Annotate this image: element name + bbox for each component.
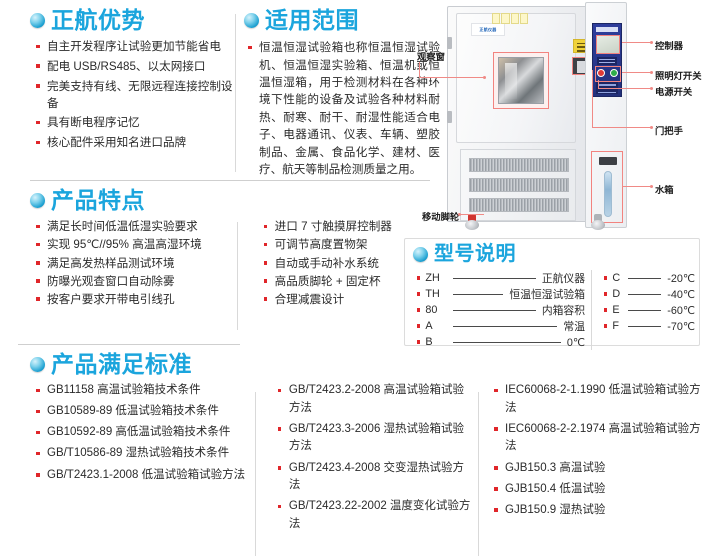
lamp-switch-icon[interactable] (610, 69, 618, 77)
divider-vertical (237, 222, 238, 330)
model-value: -20℃ (667, 272, 695, 285)
observation-window-glass (498, 57, 544, 104)
divider-horizontal (18, 344, 240, 345)
leader-line (622, 72, 653, 73)
model-row: B0℃ (417, 334, 585, 350)
model-code: F (612, 320, 622, 332)
leader-dot (650, 126, 653, 129)
bullet-icon (604, 276, 607, 279)
brand-logo-text: 正航仪器 (479, 27, 496, 33)
callout-caster: 移动脚轮 (422, 209, 459, 223)
leader-dot (650, 41, 653, 44)
section-standards: 产品满足标准 GB11158 高温试验箱技术条件 GB10589-89 低温试验… (18, 352, 710, 537)
list-item: IEC60068-2-2.1974 高温试验箱试验方法 (492, 421, 710, 456)
model-code: 80 (425, 304, 447, 316)
list-item: GB10589-89 低温试验箱技术条件 (34, 403, 254, 421)
model-rows-right: C-20℃ D-40℃ E-60℃ F-70℃ (591, 270, 695, 350)
bullet-icon (604, 324, 607, 327)
features-list-left: 满足长时间低温低湿实验要求 实现 95℃//95% 高温高湿环境 满足高发热样品… (34, 218, 244, 309)
section-title: 正航优势 (51, 8, 145, 32)
leader-dot (458, 213, 461, 216)
bullet-icon (604, 292, 607, 295)
list-item: GJB150.9 湿热试验 (492, 502, 710, 520)
leader-line (622, 42, 653, 43)
bullet-icon (417, 340, 420, 343)
vent-grille-icon (469, 158, 569, 172)
cabinet-door: 正航仪器 (456, 13, 576, 143)
callout-controller: 控制器 (655, 38, 683, 52)
leader-dot (483, 76, 486, 79)
section-header-advantages: 正航优势 (30, 8, 236, 32)
section-title: 型号说明 (434, 244, 516, 265)
model-code: ZH (425, 272, 447, 284)
bullet-icon (417, 292, 420, 295)
product-spec-page: 正航优势 自主开发程序让试验更加节能省电 配电 USB/RS485、以太网接口 … (0, 0, 710, 556)
section-header-model: 型号说明 (413, 244, 699, 265)
section-features: 产品特点 满足长时间低温低湿实验要求 实现 95℃//95% 高温高湿环境 满足… (18, 188, 438, 309)
section-title: 产品特点 (51, 188, 145, 212)
list-item: GB/T2423.4-2008 交变湿热试验方法 (276, 460, 474, 495)
list-item: 核心配件采用知名进口品牌 (34, 134, 236, 151)
callout-water-tank: 水箱 (655, 182, 674, 196)
model-row: 80内箱容积 (417, 302, 585, 318)
model-row: TH恒温恒湿试验箱 (417, 286, 585, 302)
orb-icon (30, 357, 45, 372)
leader-dot (650, 71, 653, 74)
tank-slot-icon (599, 157, 617, 165)
model-rows-left: ZH正航仪器 TH恒温恒湿试验箱 80内箱容积 A常温 B0℃ (417, 270, 585, 350)
orb-icon (30, 193, 45, 208)
list-item: 防曝光观查窗口自动除雾 (34, 273, 244, 290)
section-header-features: 产品特点 (30, 188, 438, 212)
model-row: F-70℃ (604, 318, 695, 334)
dash-connector (628, 278, 661, 279)
leader-line (622, 170, 623, 186)
scope-paragraph: 恒温恒湿试验箱也称恒温恒湿试验机、恒温恒湿实验箱、恒温机或恒温恒湿箱，用于检测材… (246, 39, 440, 178)
dash-connector (453, 310, 535, 311)
tank-level-tube-icon (604, 171, 612, 217)
standards-list-1: GB11158 高温试验箱技术条件 GB10589-89 低温试验箱技术条件 G… (34, 382, 254, 537)
leader-line (419, 77, 484, 78)
cabinet-body: 正航仪器 (447, 6, 587, 222)
bullet-icon (417, 308, 420, 311)
control-panel (592, 23, 622, 97)
model-row: C-20℃ (604, 270, 695, 286)
list-item: GJB150.3 高温试验 (492, 460, 710, 478)
water-tank-highlight (591, 151, 623, 223)
model-row: D-40℃ (604, 286, 695, 302)
vent-grille-icon (469, 178, 569, 192)
vent-grille-icon (469, 198, 569, 212)
brand-logo: 正航仪器 (471, 23, 505, 36)
bullet-icon (417, 324, 420, 327)
leader-line (592, 127, 653, 128)
list-item: IEC60068-2-1.1990 低温试验箱试验方法 (492, 382, 710, 417)
list-item: GB/T2423.2-2008 高温试验箱试验方法 (276, 382, 474, 417)
divider-horizontal (30, 180, 430, 181)
dash-connector (628, 294, 661, 295)
hinge-icon (447, 111, 452, 123)
panel-top-label (596, 27, 618, 32)
leader-line (592, 70, 593, 127)
section-header-scope: 适用范围 (244, 8, 440, 32)
leader-dot (650, 185, 653, 188)
list-item: 完美支持有线、无限远程连接控制设备 (34, 78, 236, 112)
model-value: -70℃ (667, 320, 695, 333)
bullet-icon (417, 276, 420, 279)
list-item: GB/T10586-89 湿热试验箱技术条件 (34, 445, 254, 463)
advantages-list: 自主开发程序让试验更加节能省电 配电 USB/RS485、以太网接口 完美支持有… (34, 38, 236, 151)
model-value: 内箱容积 (542, 302, 585, 318)
lower-vent-panel (460, 149, 576, 221)
standards-list-2: GB/T2423.2-2008 高温试验箱试验方法 GB/T2423.3-200… (276, 382, 474, 537)
model-code: C (612, 272, 622, 284)
list-item: GB10592-89 高低温试验箱技术条件 (34, 424, 254, 442)
switch-row (596, 68, 620, 80)
bullet-icon (604, 308, 607, 311)
orb-icon (413, 247, 428, 262)
model-value: 正航仪器 (542, 270, 585, 286)
list-item: GJB150.4 低温试验 (492, 481, 710, 499)
list-item: 按客户要求开带电引线孔 (34, 291, 244, 308)
orb-icon (30, 13, 45, 28)
callout-lamp-switch: 照明灯开关 (655, 68, 702, 82)
list-item: GB11158 高温试验箱技术条件 (34, 382, 254, 400)
model-code: TH (425, 288, 447, 300)
list-item: 进口 7 寸触摸屏控制器 (262, 218, 438, 235)
product-photo: 正航仪器 (447, 2, 627, 230)
observation-window-highlight (493, 52, 549, 109)
leader-line (622, 186, 653, 187)
list-item: GB/T2423.1-2008 低温试验箱试验方法 (34, 467, 254, 485)
model-value: 0℃ (567, 336, 585, 349)
list-item: 具有断电程序记忆 (34, 114, 236, 131)
model-code: B (425, 336, 447, 348)
caster-icon (591, 214, 605, 230)
model-value: 恒温恒湿试验箱 (509, 286, 585, 302)
list-item: GB/T2423.22-2002 温度变化试验方法 (276, 498, 474, 533)
section-title: 适用范围 (265, 8, 359, 32)
panel-mid-label (597, 57, 617, 65)
divider-vertical (235, 14, 236, 172)
indicator-lamps-icon (492, 13, 528, 24)
list-item: GB/T2423.3-2006 湿热试验箱试验方法 (276, 421, 474, 456)
model-row: E-60℃ (604, 302, 695, 318)
model-row: A常温 (417, 318, 585, 334)
callout-door-handle: 门把手 (655, 123, 683, 137)
hinge-icon (447, 37, 452, 49)
dash-connector (628, 326, 661, 327)
divider-vertical (255, 392, 256, 556)
model-value: -60℃ (667, 304, 695, 317)
section-model-description: 型号说明 ZH正航仪器 TH恒温恒湿试验箱 80内箱容积 A常温 B0℃ C-2… (404, 238, 700, 346)
callout-power-switch: 电源开关 (655, 84, 692, 98)
leader-line (419, 62, 420, 78)
model-code: E (612, 304, 622, 316)
section-header-standards: 产品满足标准 (30, 352, 710, 376)
leader-line (598, 88, 653, 89)
leader-line (460, 214, 484, 215)
dash-connector (453, 342, 560, 343)
model-value: -40℃ (667, 288, 695, 301)
dash-connector (453, 326, 557, 327)
standards-list-3: IEC60068-2-1.1990 低温试验箱试验方法 IEC60068-2-2… (492, 382, 710, 537)
model-row: ZH正航仪器 (417, 270, 585, 286)
list-item: 自主开发程序让试验更加节能省电 (34, 38, 236, 55)
section-advantages: 正航优势 自主开发程序让试验更加节能省电 配电 USB/RS485、以太网接口 … (18, 8, 236, 154)
model-code: D (612, 288, 622, 300)
dash-connector (628, 310, 661, 311)
dash-connector (453, 278, 535, 279)
callout-observation-window: 观察窗 (417, 49, 445, 63)
section-title: 产品满足标准 (51, 352, 192, 376)
divider-vertical (478, 392, 479, 556)
list-item: 满足高发热样品测试环境 (34, 255, 244, 272)
leader-line (598, 80, 599, 88)
leader-dot (650, 87, 653, 90)
model-code: A (425, 320, 447, 332)
list-item: 实现 95℃//95% 高温高湿环境 (34, 236, 244, 253)
orb-icon (244, 13, 259, 28)
section-scope: 适用范围 恒温恒湿试验箱也称恒温恒湿试验机、恒温恒湿实验箱、恒温机或恒温恒湿箱，… (240, 8, 440, 178)
caster-icon (465, 214, 479, 230)
list-item: 满足长时间低温低湿实验要求 (34, 218, 244, 235)
model-value: 常温 (563, 318, 585, 334)
power-switch-icon[interactable] (597, 69, 605, 77)
list-item: 配电 USB/RS485、以太网接口 (34, 58, 236, 75)
controller-screen-icon (596, 35, 620, 54)
dash-connector (453, 294, 503, 295)
